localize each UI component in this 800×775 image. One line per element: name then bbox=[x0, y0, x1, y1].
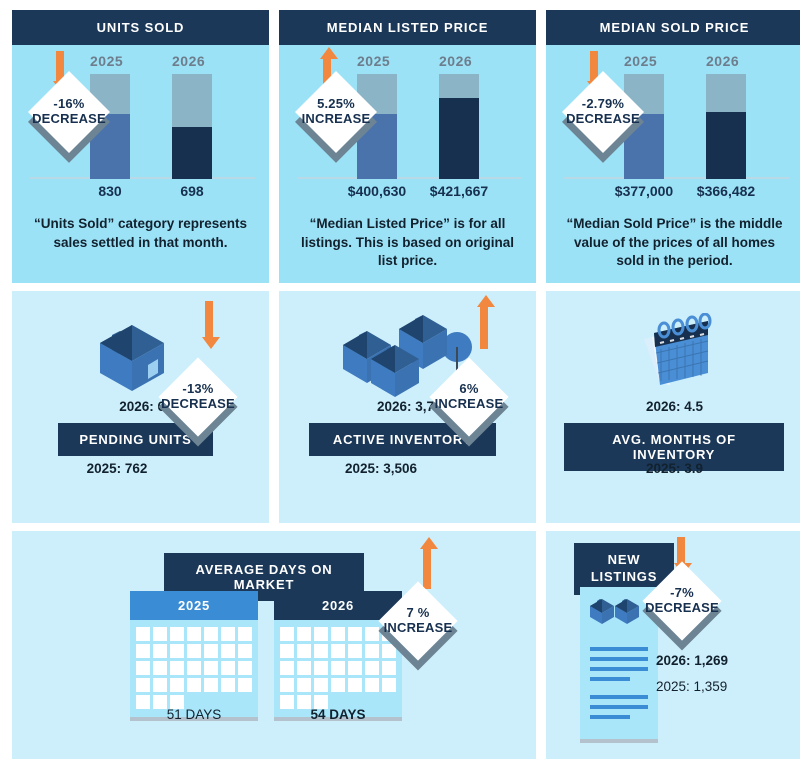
calendar-grid-2025 bbox=[130, 620, 258, 717]
calendar-cell bbox=[170, 661, 184, 675]
badge-percent: 5.25% bbox=[317, 97, 355, 112]
card-body-avg-days-on-market: AVERAGE DAYS ON MARKET 2025 bbox=[12, 531, 536, 759]
document-text-line bbox=[590, 647, 648, 651]
change-badge-median-sold-price: -2.79% DECREASE bbox=[574, 83, 632, 141]
calendar-cell bbox=[221, 627, 235, 641]
label-new-listings-line1: NEW bbox=[608, 552, 641, 567]
days-value-2025: 51 DAYS bbox=[130, 707, 258, 722]
bar-chart-median-sold-price: 2025 2026 -2.79 bbox=[546, 45, 800, 197]
calendar-cell bbox=[331, 627, 345, 641]
badge-percent: -16% bbox=[53, 97, 84, 112]
card-body-units-sold: 2025 2026 -16% bbox=[12, 45, 269, 283]
value-2026-new-listings: 2026: 1,269 bbox=[656, 653, 786, 668]
card-body-median-listed-price: 2025 2026 5.25% bbox=[279, 45, 536, 283]
calendar-cell bbox=[187, 644, 201, 658]
infographic-grid: UNITS SOLD 2025 2026 bbox=[0, 0, 800, 759]
bar-chart-units-sold: 2025 2026 -16% bbox=[12, 45, 269, 197]
calendar-cell bbox=[187, 627, 201, 641]
document-text-line bbox=[590, 715, 630, 719]
calendar-icon bbox=[630, 313, 720, 393]
chart-baseline bbox=[297, 177, 522, 179]
badge-word: INCREASE bbox=[384, 621, 453, 636]
year-label-2026: 2026 bbox=[439, 53, 472, 69]
badge-word: INCREASE bbox=[302, 112, 371, 127]
badge-percent: -13% bbox=[182, 382, 213, 397]
year-label-2025: 2025 bbox=[90, 53, 123, 69]
calendar-cell bbox=[221, 661, 235, 675]
change-badge-units-sold: -16% DECREASE bbox=[40, 83, 98, 141]
bar-value-2026: 698 bbox=[147, 183, 237, 199]
bar-value-2025: $377,000 bbox=[599, 183, 689, 199]
badge-word: DECREASE bbox=[566, 112, 640, 127]
calendar-cell bbox=[238, 661, 252, 675]
calendar-cell bbox=[365, 678, 379, 692]
card-body-active-inventory: 2026: 3,703 ACTIVE INVENTORY 2025: 3,506… bbox=[279, 291, 536, 523]
bar-2026 bbox=[172, 74, 212, 179]
value-2025-active-inventory: 2025: 3,506 bbox=[301, 461, 461, 476]
card-caption-median-listed-price: “Median Listed Price” is for all listing… bbox=[293, 215, 522, 271]
year-label-2026: 2026 bbox=[706, 53, 739, 69]
calendar-cell bbox=[297, 644, 311, 658]
card-pending-units: 2026: 661 PENDING UNITS 2025: 762 -13% D… bbox=[12, 291, 269, 523]
arrow-up-icon bbox=[477, 295, 491, 349]
bar-2026 bbox=[439, 74, 479, 179]
calendar-cell bbox=[170, 627, 184, 641]
card-active-inventory: 2026: 3,703 ACTIVE INVENTORY 2025: 3,506… bbox=[279, 291, 536, 523]
calendar-cell bbox=[136, 661, 150, 675]
calendar-cell bbox=[153, 627, 167, 641]
calendar-cell bbox=[221, 644, 235, 658]
card-title-median-listed-price: MEDIAN LISTED PRICE bbox=[279, 10, 536, 45]
calendar-cell bbox=[348, 644, 362, 658]
calendar-cell bbox=[204, 678, 218, 692]
value-2025-pending-units: 2025: 762 bbox=[42, 461, 192, 476]
change-badge-median-listed-price: 5.25% INCREASE bbox=[307, 83, 365, 141]
calendar-cell bbox=[280, 627, 294, 641]
calendar-cell bbox=[348, 661, 362, 675]
calendar-cell bbox=[153, 678, 167, 692]
change-badge-new-listings: -7% DECREASE bbox=[654, 573, 710, 629]
bar-chart-median-listed-price: 2025 2026 5.25% bbox=[279, 45, 536, 197]
year-label-2026: 2026 bbox=[172, 53, 205, 69]
document-text-line bbox=[590, 657, 648, 661]
calendar-cell bbox=[238, 644, 252, 658]
arrow-down-icon bbox=[202, 301, 216, 349]
card-title-median-sold-price: MEDIAN SOLD PRICE bbox=[546, 10, 800, 45]
badge-word: DECREASE bbox=[161, 397, 235, 412]
calendar-cell bbox=[280, 678, 294, 692]
calendar-cell bbox=[170, 644, 184, 658]
change-badge-avg-days-on-market: 7 % INCREASE bbox=[390, 593, 446, 649]
calendar-cell bbox=[331, 644, 345, 658]
calendar-cell bbox=[187, 661, 201, 675]
card-title-units-sold: UNITS SOLD bbox=[12, 10, 269, 45]
calendar-cell bbox=[297, 627, 311, 641]
value-2025-avg-months-inventory: 2025: 3.9 bbox=[546, 461, 800, 476]
calendar-cell bbox=[348, 678, 362, 692]
calendar-cell bbox=[204, 661, 218, 675]
calendar-cell bbox=[136, 627, 150, 641]
calendar-cell bbox=[382, 661, 396, 675]
bar-value-2025: $400,630 bbox=[332, 183, 422, 199]
document-text-line bbox=[590, 695, 648, 699]
calendar-cell bbox=[314, 661, 328, 675]
badge-percent: 7 % bbox=[406, 606, 429, 621]
document-text-line bbox=[590, 705, 648, 709]
value-2026-avg-months-inventory: 2026: 4.5 bbox=[546, 399, 800, 414]
document-shadow bbox=[580, 739, 658, 743]
card-body-new-listings: NEW LISTINGS bbox=[546, 531, 800, 759]
calendar-year-2025: 2025 bbox=[130, 591, 258, 620]
card-body-median-sold-price: 2025 2026 -2.79 bbox=[546, 45, 800, 283]
bar-value-2026: $366,482 bbox=[681, 183, 771, 199]
value-2025-new-listings: 2025: 1,359 bbox=[656, 679, 786, 694]
calendar-cell bbox=[280, 661, 294, 675]
badge-percent: -2.79% bbox=[582, 97, 624, 112]
calendar-cell bbox=[331, 678, 345, 692]
badge-percent: 6% bbox=[459, 382, 478, 397]
card-new-listings: NEW LISTINGS bbox=[546, 531, 800, 759]
card-caption-median-sold-price: “Median Sold Price” is the middle value … bbox=[560, 215, 789, 271]
calendar-cell bbox=[348, 627, 362, 641]
calendar-cell bbox=[314, 678, 328, 692]
calendar-cell bbox=[136, 678, 150, 692]
card-units-sold: UNITS SOLD 2025 2026 bbox=[12, 10, 269, 283]
calendar-cell bbox=[153, 644, 167, 658]
calendar-cell bbox=[204, 627, 218, 641]
calendar-cell bbox=[187, 678, 201, 692]
calendar-cell bbox=[204, 644, 218, 658]
card-caption-units-sold: “Units Sold” category represents sales s… bbox=[26, 215, 255, 252]
badge-word: DECREASE bbox=[32, 112, 106, 127]
calendar-cell bbox=[170, 678, 184, 692]
calendar-cell bbox=[221, 678, 235, 692]
calendar-cell bbox=[136, 644, 150, 658]
card-avg-days-on-market: AVERAGE DAYS ON MARKET 2025 bbox=[12, 531, 536, 759]
card-avg-months-inventory: 2026: 4.5 AVG. MONTHS OF INVENTORY 2025:… bbox=[546, 291, 800, 523]
card-median-listed-price: MEDIAN LISTED PRICE 2025 2026 bbox=[279, 10, 536, 283]
calendar-cell bbox=[314, 644, 328, 658]
card-body-pending-units: 2026: 661 PENDING UNITS 2025: 762 -13% D… bbox=[12, 291, 269, 523]
calendar-cell bbox=[331, 661, 345, 675]
badge-word: DECREASE bbox=[645, 601, 719, 616]
calendar-cell bbox=[153, 661, 167, 675]
calendar-2025: 2025 bbox=[130, 591, 258, 721]
badge-word: INCREASE bbox=[435, 397, 504, 412]
bar-2026 bbox=[706, 74, 746, 179]
document-text-line bbox=[590, 677, 630, 681]
document-text-line bbox=[590, 667, 648, 671]
badge-percent: -7% bbox=[670, 586, 694, 601]
chart-baseline bbox=[30, 177, 255, 179]
value-2026-active-inventory: 2026: 3,703 bbox=[289, 399, 449, 414]
arrow-up-icon bbox=[420, 537, 434, 589]
chart-baseline bbox=[564, 177, 789, 179]
calendar-cell bbox=[297, 661, 311, 675]
days-value-2026: 54 DAYS bbox=[274, 707, 402, 722]
calendar-cell bbox=[280, 644, 294, 658]
change-badge-pending-units: -13% DECREASE bbox=[170, 369, 226, 425]
calendar-cell bbox=[297, 678, 311, 692]
card-body-avg-months-inventory: 2026: 4.5 AVG. MONTHS OF INVENTORY 2025:… bbox=[546, 291, 800, 523]
bar-value-2026: $421,667 bbox=[414, 183, 504, 199]
calendar-cell bbox=[238, 678, 252, 692]
year-label-2025: 2025 bbox=[624, 53, 657, 69]
year-label-2025: 2025 bbox=[357, 53, 390, 69]
change-badge-active-inventory: 6% INCREASE bbox=[441, 369, 497, 425]
calendar-cell bbox=[365, 661, 379, 675]
calendar-cell bbox=[238, 627, 252, 641]
calendar-cell bbox=[314, 627, 328, 641]
bar-value-2025: 830 bbox=[65, 183, 155, 199]
card-median-sold-price: MEDIAN SOLD PRICE 2025 2026 bbox=[546, 10, 800, 283]
calendar-cell bbox=[382, 678, 396, 692]
